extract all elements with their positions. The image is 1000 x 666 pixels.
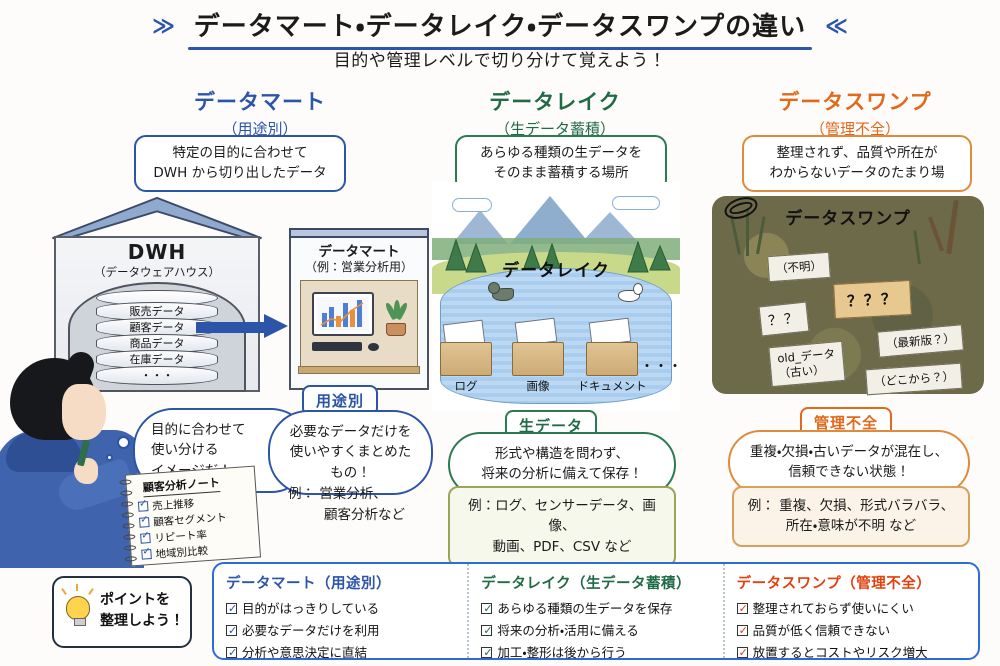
summary-column-lake: データレイク（生データ蓄積） あらゆる種類の生データを保存 将来の分析・活用に備… bbox=[467, 564, 722, 658]
swamp-note-old: old_データ （古い） bbox=[768, 341, 845, 387]
column-name-lake: データレイク bbox=[425, 86, 685, 116]
crate-log bbox=[440, 342, 492, 376]
title-area: データマート・データレイク・データスワンプの違い bbox=[0, 4, 1000, 49]
plant-icon bbox=[386, 302, 406, 336]
checkbox-icon bbox=[481, 603, 492, 614]
summary-column-swamp: データスワンプ（管理不全） 整理されておらず使いにくい 品質が低く信頼できない … bbox=[723, 564, 978, 658]
notebook-title: 顧客分析ノート bbox=[142, 474, 220, 497]
crate-label-log: ログ bbox=[431, 378, 501, 394]
bubble-mart-summary: 必要なデータだけを 使いやすくまとめたもの！ bbox=[268, 410, 433, 495]
example-swamp-line1: 例： 重複、欠損、形式バラバラ、 bbox=[744, 496, 958, 516]
definition-lake-line1: あらゆる種類の生データを bbox=[467, 144, 655, 164]
checkbox-icon bbox=[737, 603, 748, 614]
column-name-swamp: データスワンプ bbox=[720, 86, 990, 116]
summary-panel: データマート（用途別） 目的がはっきりしている 必要なデータだけを利用 分析や意… bbox=[212, 562, 980, 660]
mouse-icon bbox=[368, 343, 379, 351]
cloud-icon bbox=[452, 198, 492, 212]
example-mart: 例： 営業分析、 顧客分析など bbox=[278, 484, 448, 526]
cloud-icon bbox=[612, 196, 660, 210]
checkbox-icon bbox=[481, 647, 492, 658]
summary-item: あらゆる種類の生データを保存 bbox=[481, 598, 710, 620]
bubble-lake-line1: 形式や構造を問わず、 bbox=[466, 444, 658, 464]
desk-surface bbox=[298, 366, 420, 374]
checkbox-icon bbox=[481, 625, 492, 636]
checkbox-icon bbox=[737, 625, 748, 636]
definition-lake-line2: そのまま蓄積する場所 bbox=[467, 164, 655, 184]
swamp-note-qmarks: ？？ bbox=[759, 302, 810, 337]
summary-item: 加工・整形は後から行う bbox=[481, 642, 710, 664]
crate-image bbox=[512, 342, 564, 376]
summary-item: 必要なデータだけを利用 bbox=[226, 620, 455, 642]
swamp-note-unknown: （不明） bbox=[767, 252, 831, 282]
definition-box-swamp: 整理されず、品質や所在が わからないデータのたまり場 bbox=[742, 135, 972, 192]
bubble-mart-line2: 使いやすくまとめたもの！ bbox=[286, 442, 415, 483]
summary-title-lake: データレイク（生データ蓄積） bbox=[481, 572, 710, 593]
bubble-swamp-line1: 重複・欠損・古いデータが混在し、 bbox=[746, 442, 952, 462]
definition-mart-line2: DWH から切り出したデータ bbox=[146, 164, 334, 184]
checkbox-icon bbox=[226, 647, 237, 658]
spark-left-icon: ≫ bbox=[152, 14, 175, 39]
point-line1: ポイントを bbox=[100, 590, 190, 611]
example-lake-line1: 例：ログ、センサーデータ、画像、 bbox=[460, 496, 664, 537]
crate-ellipsis: ・・・ bbox=[640, 356, 680, 376]
summary-item: 整理されておらず使いにくい bbox=[737, 598, 966, 620]
swamp-title: データスワンプ bbox=[712, 204, 984, 229]
bubble-mart-line1: 必要なデータだけを bbox=[286, 422, 415, 442]
point-line2: 整理しよう！ bbox=[100, 611, 190, 632]
page-title: データマート・データレイク・データスワンプの違い bbox=[184, 4, 816, 49]
checkbox-icon bbox=[139, 517, 150, 528]
summary-column-mart: データマート（用途別） 目的がはっきりしている 必要なデータだけを利用 分析や意… bbox=[214, 564, 467, 658]
checkbox-icon bbox=[226, 625, 237, 636]
checkbox-icon bbox=[737, 647, 748, 658]
summary-item: 品質が低く信頼できない bbox=[737, 620, 966, 642]
bubble-swamp-summary: 重複・欠損・古いデータが混在し、 信頼できない状態！ bbox=[728, 430, 970, 495]
example-mart-line1: 例： 営業分析、 bbox=[278, 484, 448, 505]
bubble-swamp-line2: 信頼できない状態！ bbox=[746, 462, 952, 482]
duck-icon bbox=[492, 288, 514, 301]
crate-document bbox=[586, 342, 638, 376]
notebook-illustration: 顧客分析ノート 売上推移 顧客セグメント リピート率 地域別比較 bbox=[125, 466, 261, 567]
example-swamp-line2: 所在・意味が不明 など bbox=[744, 516, 958, 536]
flow-arrow-icon bbox=[196, 316, 292, 338]
page-subtitle: 目的や管理レベルで切り分けて覚えよう！ bbox=[0, 46, 1000, 71]
monitor-icon bbox=[312, 292, 374, 336]
crate-label-image: 画像 bbox=[503, 378, 573, 394]
definition-mart-line1: 特定の目的に合わせて bbox=[146, 144, 334, 164]
column-heading-lake: データレイク （生データ蓄積） bbox=[425, 86, 685, 139]
checkbox-icon bbox=[140, 533, 151, 544]
point-callout-box: ポイントを 整理しよう！ bbox=[52, 576, 192, 648]
column-heading-mart: データマート （用途別） bbox=[130, 86, 390, 139]
spark-right-icon: ≪ bbox=[825, 14, 848, 39]
infographic-page: データマート・データレイク・データスワンプの違い ≫ ≪ 目的や管理レベルで切り… bbox=[0, 0, 1000, 666]
summary-item: 分析や意思決定に直結 bbox=[226, 642, 455, 664]
desk-label: データマート bbox=[289, 240, 429, 260]
dwh-subtitle: （データウェアハウス） bbox=[54, 264, 260, 280]
checkbox-icon bbox=[141, 549, 152, 560]
dwh-title: DWH bbox=[54, 240, 260, 264]
summary-item: 将来の分析・活用に備える bbox=[481, 620, 710, 642]
desk-sublabel: （例：営業分析用） bbox=[289, 258, 429, 275]
bubble-lake-line2: 将来の分析に備えて保存！ bbox=[466, 464, 658, 484]
notebook-item: 地域別比較 bbox=[141, 543, 208, 563]
column-heading-swamp: データスワンプ （管理不全） bbox=[720, 86, 990, 139]
column-name-mart: データマート bbox=[130, 86, 390, 116]
crate-label-document: ドキュメント bbox=[570, 378, 654, 394]
summary-item: 目的がはっきりしている bbox=[226, 598, 455, 620]
definition-swamp-line1: 整理されず、品質や所在が bbox=[754, 144, 960, 164]
swan-icon bbox=[618, 290, 640, 302]
lightbulb-icon bbox=[66, 596, 90, 620]
summary-item: 放置するとコストやリスク増大 bbox=[737, 642, 966, 664]
data-mart-room-roof bbox=[289, 228, 429, 238]
definition-box-mart: 特定の目的に合わせて DWH から切り出したデータ bbox=[134, 135, 346, 192]
summary-title-mart: データマート（用途別） bbox=[226, 572, 455, 593]
example-mart-line2: 顧客分析など bbox=[278, 505, 448, 526]
summary-title-swamp: データスワンプ（管理不全） bbox=[737, 572, 966, 593]
swamp-note-old-line1: old_データ bbox=[777, 347, 836, 366]
swamp-folder-qqq: ？？？ bbox=[833, 280, 912, 319]
example-lake-line2: 動画、PDF、CSV など bbox=[460, 537, 664, 557]
swamp-note-old-line2: （古い） bbox=[778, 362, 825, 380]
keyboard-icon bbox=[312, 342, 362, 351]
point-text: ポイントを 整理しよう！ bbox=[100, 590, 190, 632]
checkbox-icon bbox=[138, 501, 149, 512]
example-box-swamp: 例： 重複、欠損、形式バラバラ、 所在・意味が不明 など bbox=[732, 486, 970, 547]
lake-water-label: データレイク bbox=[432, 256, 680, 281]
definition-swamp-line2: わからないデータのたまり場 bbox=[754, 164, 960, 184]
example-box-lake: 例：ログ、センサーデータ、画像、 動画、PDF、CSV など bbox=[448, 486, 676, 567]
checkbox-icon bbox=[226, 603, 237, 614]
